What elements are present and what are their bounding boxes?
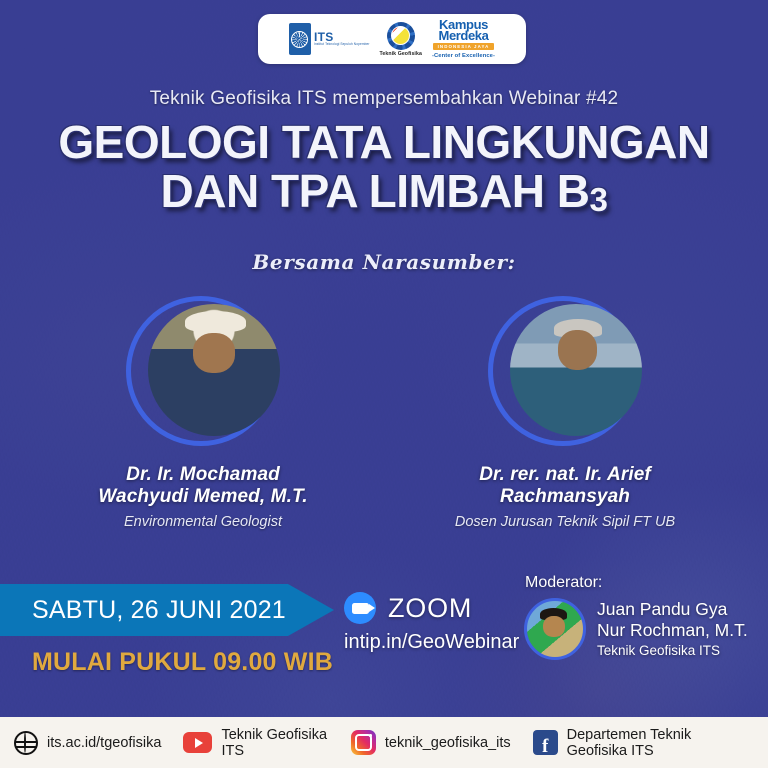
speakers-heading: Bersama Narasumber:	[0, 250, 768, 274]
moderator-label: Moderator:	[525, 574, 602, 592]
footer-label-youtube: Teknik Geofisika ITS	[221, 727, 328, 759]
webinar-poster: ITS Institut Teknologi Sepuluh Nopember …	[0, 0, 768, 768]
zoom-info: ZOOM intip.in/GeoWebinar	[344, 592, 534, 654]
page-title: GEOLOGI TATA LINGKUNGAN DAN TPA LIMBAH B…	[0, 118, 768, 216]
logo-bar: ITS Institut Teknologi Sepuluh Nopember …	[258, 14, 526, 64]
footer-label-instagram: teknik_geofisika_its	[385, 735, 511, 751]
registration-link[interactable]: intip.in/GeoWebinar	[344, 631, 534, 654]
event-date-banner: SABTU, 26 JUNI 2021	[0, 584, 334, 636]
title-line-2-main: DAN TPA LIMBAH B	[161, 165, 590, 217]
event-date: SABTU, 26 JUNI 2021	[32, 596, 286, 625]
kampus-merdeka-line2: Merdeka	[439, 30, 489, 42]
footer-label-website: its.ac.id/tgeofisika	[47, 735, 161, 751]
speaker-role: Environmental Geologist	[124, 514, 282, 530]
speaker-name: Dr. Ir. Mochamad Wachyudi Memed, M.T.	[83, 464, 323, 509]
its-logo-subtitle: Institut Teknologi Sepuluh Nopember	[314, 43, 370, 46]
moderator-name-line-1: Juan Pandu Gya	[597, 599, 748, 620]
youtube-icon	[183, 732, 212, 753]
speaker-name: Dr. rer. nat. Ir. Arief Rachmansyah	[445, 464, 685, 509]
kampus-merdeka-logo-icon: Kampus Merdeka	[439, 19, 489, 42]
speaker-card: Dr. Ir. Mochamad Wachyudi Memed, M.T. En…	[83, 296, 323, 530]
speakers-list: Dr. Ir. Mochamad Wachyudi Memed, M.T. En…	[0, 296, 768, 530]
moderator-photo	[524, 598, 586, 660]
footer-label-facebook: Departemen Teknik Geofisika ITS	[567, 727, 746, 759]
kampus-merdeka-logo: Kampus Merdeka INDONESIA JAYA -Center of…	[432, 19, 495, 60]
avatar	[510, 304, 642, 436]
footer-item-website[interactable]: its.ac.id/tgeofisika	[14, 731, 161, 755]
platform-label: ZOOM	[388, 593, 472, 624]
speaker-card: Dr. rer. nat. Ir. Arief Rachmansyah Dose…	[445, 296, 685, 530]
teknik-geofisika-logo-label: Teknik Geofisika	[380, 51, 422, 57]
title-line-2-subscript: 3	[590, 182, 608, 219]
speaker-photo-2-wrap	[488, 296, 642, 450]
moderator-card: Juan Pandu Gya Nur Rochman, M.T. Teknik …	[524, 598, 748, 660]
kicker-text: Teknik Geofisika ITS mempersembahkan Web…	[0, 88, 768, 110]
kampus-merdeka-ribbon: INDONESIA JAYA	[433, 43, 495, 50]
moderator-affiliation: Teknik Geofisika ITS	[597, 643, 748, 659]
kampus-merdeka-tagline: -Center of Excellence-	[432, 53, 495, 59]
title-line-1: GEOLOGI TATA LINGKUNGAN	[0, 118, 768, 166]
moderator-name-line-2: Nur Rochman, M.T.	[597, 620, 748, 641]
facebook-icon: f	[533, 730, 558, 755]
footer-item-instagram[interactable]: teknik_geofisika_its	[351, 730, 511, 755]
globe-icon	[14, 731, 38, 755]
speaker-role: Dosen Jurusan Teknik Sipil FT UB	[455, 514, 675, 530]
zoom-video-camera-icon	[344, 592, 376, 624]
avatar	[148, 304, 280, 436]
title-line-2: DAN TPA LIMBAH B3	[0, 167, 768, 215]
event-time: MULAI PUKUL 09.00 WIB	[32, 648, 333, 677]
footer-item-facebook[interactable]: f Departemen Teknik Geofisika ITS	[533, 727, 746, 759]
its-logo-icon	[289, 23, 311, 55]
teknik-geofisika-logo: Teknik Geofisika	[380, 22, 422, 57]
footer-item-youtube[interactable]: Teknik Geofisika ITS	[183, 727, 328, 759]
speaker-photo-1-wrap	[126, 296, 280, 450]
teknik-geofisika-logo-icon	[387, 22, 415, 50]
social-footer: its.ac.id/tgeofisika Teknik Geofisika IT…	[0, 717, 768, 768]
its-logo: ITS Institut Teknologi Sepuluh Nopember	[289, 23, 370, 55]
instagram-icon	[351, 730, 376, 755]
